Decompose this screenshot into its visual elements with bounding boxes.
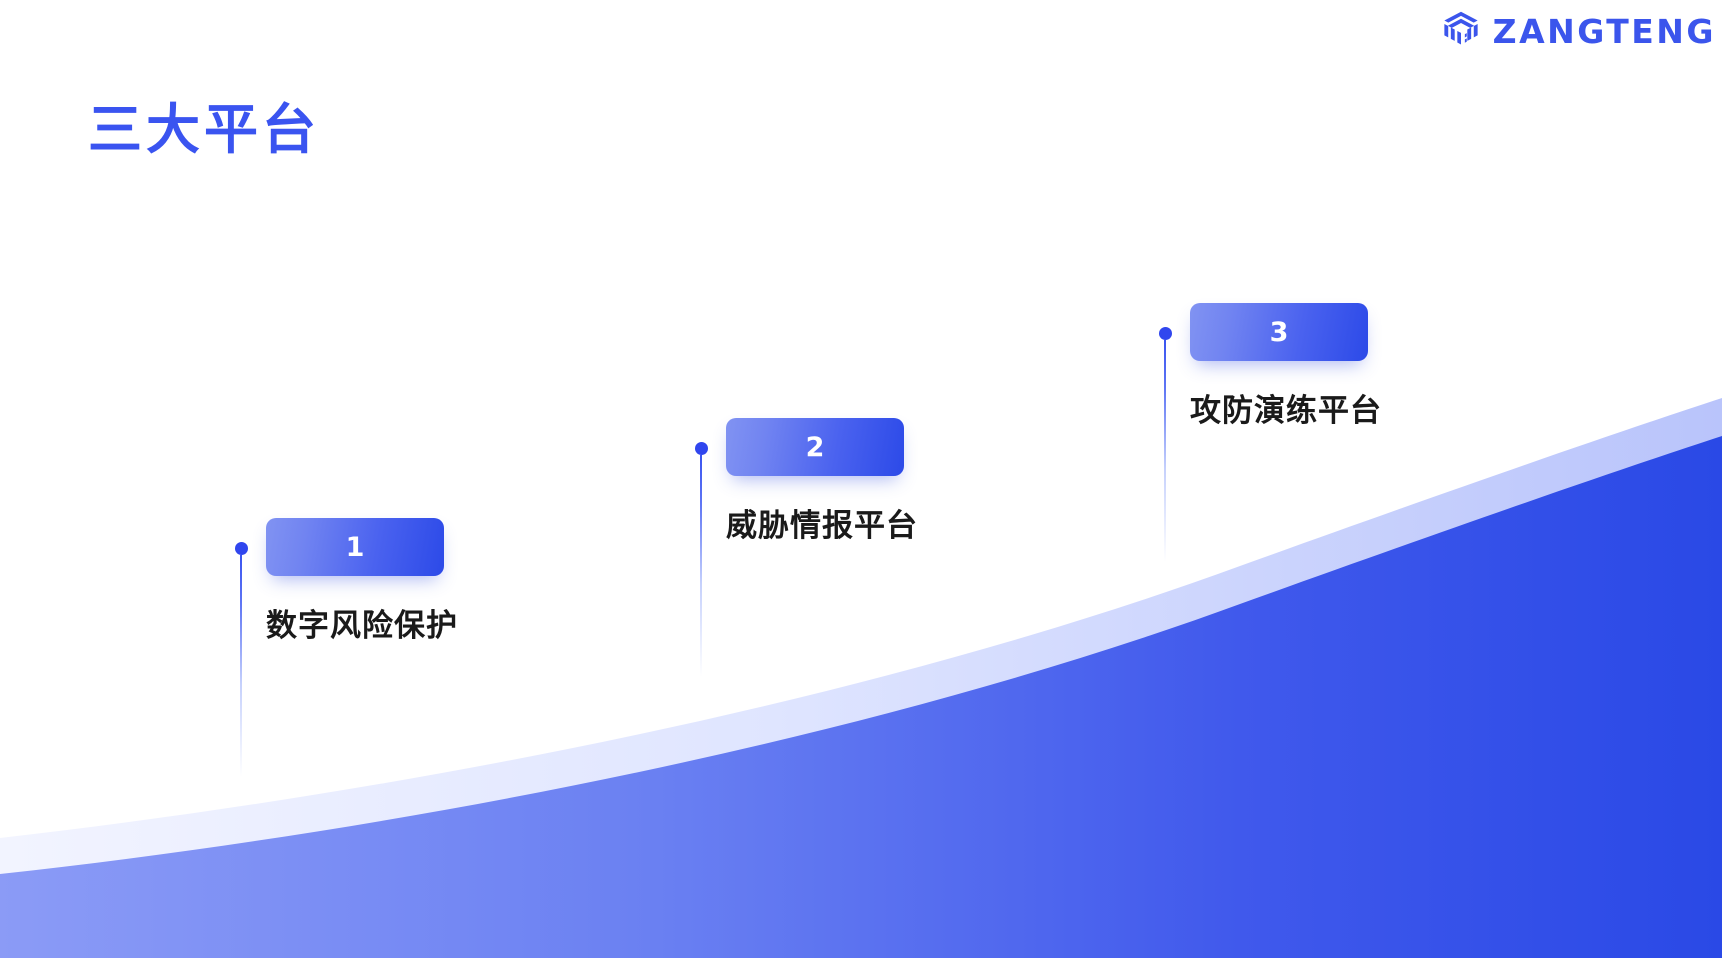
step-connector-line-3 <box>1164 333 1167 563</box>
step-line-2 <box>700 455 702 677</box>
step-number-card-3[interactable]: 3 <box>1190 303 1368 361</box>
step-dot-icon-2 <box>695 442 708 455</box>
step-title-3: 攻防演练平台 <box>1190 385 1382 430</box>
step-number-card-2[interactable]: 2 <box>726 418 904 476</box>
step-connector-line-2 <box>700 448 703 678</box>
step-number-label-2: 2 <box>806 434 825 461</box>
step-line-3 <box>1164 340 1166 562</box>
step-dot-icon-1 <box>235 542 248 555</box>
isometric-cube-icon <box>1440 10 1482 52</box>
step-connector-line-1 <box>240 548 243 778</box>
step-number-label-3: 3 <box>1270 319 1289 346</box>
background-wave-decoration <box>0 398 1722 958</box>
step-line-1 <box>240 555 242 777</box>
step-title-1: 数字风险保护 <box>266 600 458 645</box>
step-dot-icon-3 <box>1159 327 1172 340</box>
wave-back-shape <box>0 398 1722 958</box>
brand-name: ZANGTENG <box>1493 15 1716 48</box>
slide-canvas: ZANGTENG 三大平台 1 数字风险保护 2 威胁情报平台 3 <box>0 0 1722 958</box>
step-title-2: 威胁情报平台 <box>726 500 918 545</box>
step-number-label-1: 1 <box>346 534 365 561</box>
page-title: 三大平台 <box>88 98 320 163</box>
step-number-card-1[interactable]: 1 <box>266 518 444 576</box>
brand-logo: ZANGTENG <box>1440 8 1716 54</box>
